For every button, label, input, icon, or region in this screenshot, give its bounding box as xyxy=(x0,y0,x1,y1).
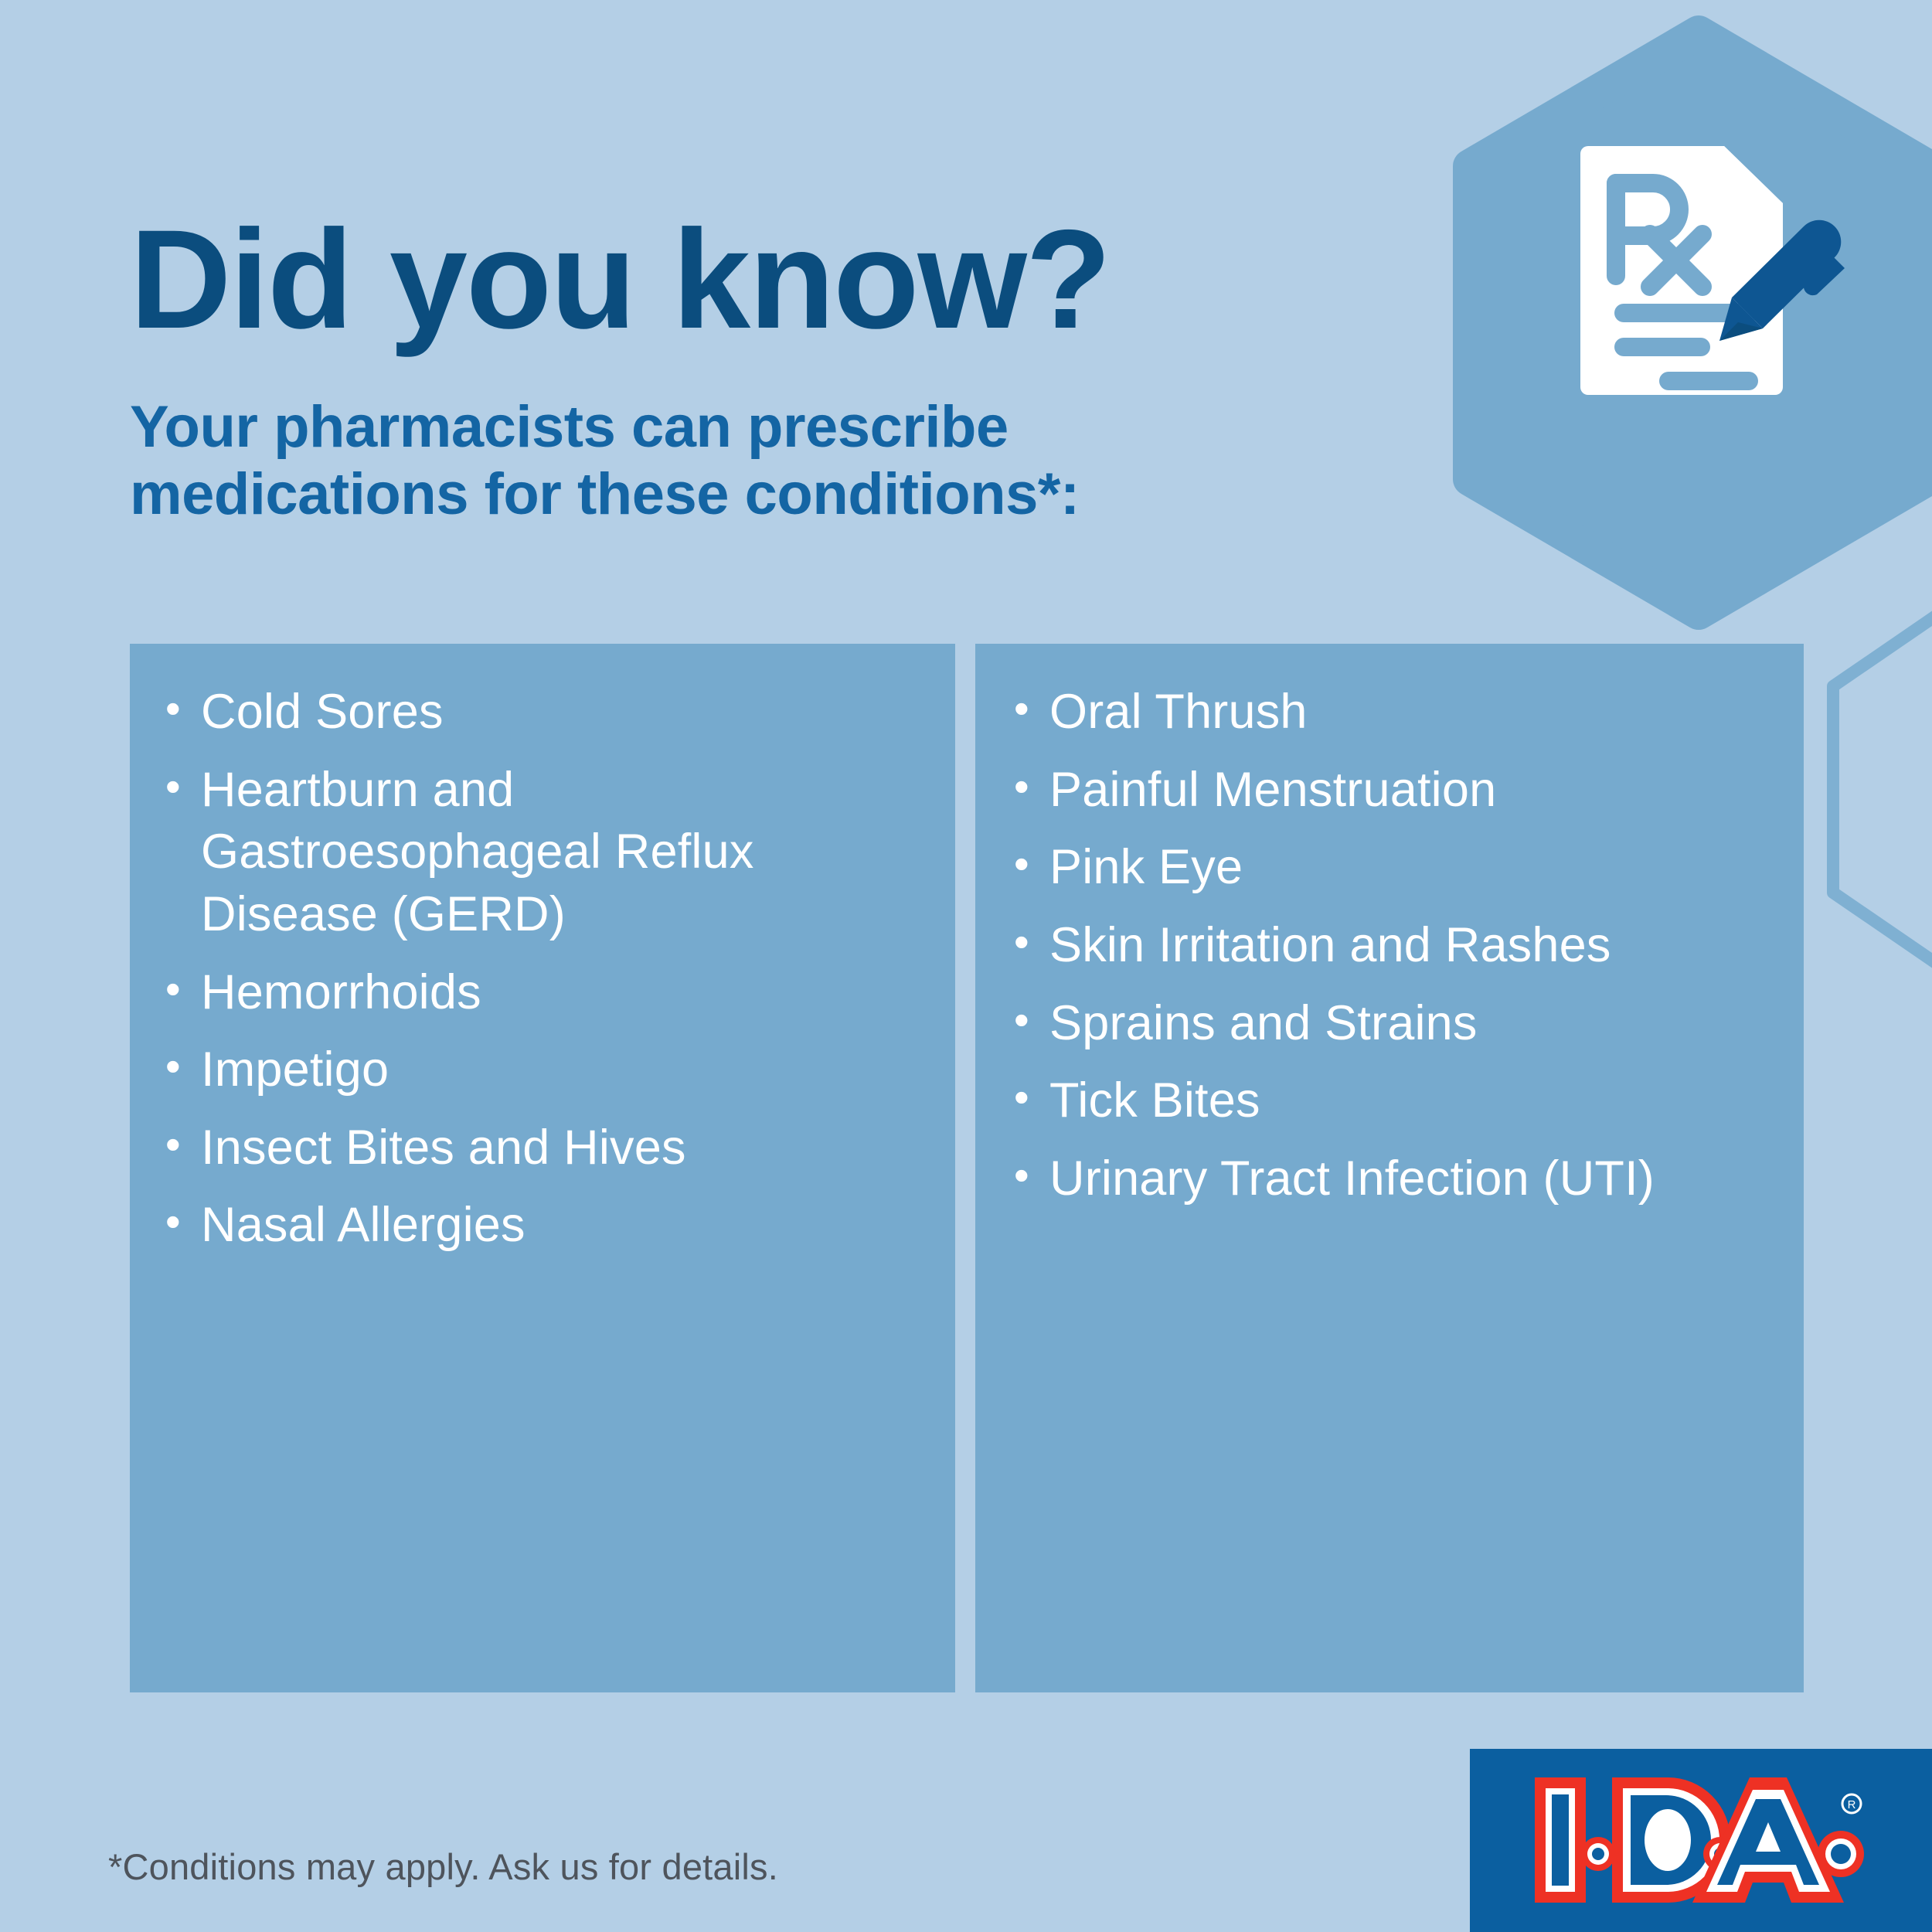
list-item: Impetigo xyxy=(161,1039,924,1101)
list-item: Pink Eye xyxy=(1009,836,1773,899)
prescription-document-icon xyxy=(1573,135,1851,421)
list-item: Sprains and Strains xyxy=(1009,992,1773,1055)
ida-logo: R xyxy=(1532,1774,1872,1906)
subtitle-line-2: medications for these conditions*: xyxy=(130,461,1289,529)
list-item: Skin Irritation and Rashes xyxy=(1009,914,1773,977)
subtitle-line-1: Your pharmacists can prescribe xyxy=(130,394,1289,461)
svg-text:R: R xyxy=(1848,1798,1856,1811)
list-item: Urinary Tract Infection (UTI) xyxy=(1009,1148,1773,1210)
list-item: Insect Bites and Hives xyxy=(161,1117,924,1179)
page-subtitle: Your pharmacists can prescribe medicatio… xyxy=(130,394,1289,528)
conditions-panel-right: Oral Thrush Painful Menstruation Pink Ey… xyxy=(975,644,1804,1692)
conditions-list-left: Cold Sores Heartburn and Gastroesophagea… xyxy=(161,681,924,1257)
list-item: Nasal Allergies xyxy=(161,1194,924,1257)
list-item: Painful Menstruation xyxy=(1009,759,1773,821)
hexagon-outline-icon xyxy=(1833,583,1932,995)
list-item: Hemorrhoids xyxy=(161,961,924,1024)
conditions-list-right: Oral Thrush Painful Menstruation Pink Ey… xyxy=(1009,681,1773,1209)
registered-trademark-icon: R xyxy=(1842,1794,1861,1813)
brand-logo-plate: R xyxy=(1470,1749,1932,1932)
list-item: Heartburn and Gastroesophageal Reflux Di… xyxy=(161,759,924,946)
list-item: Cold Sores xyxy=(161,681,924,743)
poster-canvas: Did you know? Your pharmacists can presc… xyxy=(0,0,1932,1932)
list-item: Tick Bites xyxy=(1009,1070,1773,1132)
page-title: Did you know? xyxy=(130,209,1110,349)
footnote-disclaimer: *Conditions may apply. Ask us for detail… xyxy=(108,1845,778,1888)
conditions-panel-left: Cold Sores Heartburn and Gastroesophagea… xyxy=(130,644,955,1692)
conditions-panels: Cold Sores Heartburn and Gastroesophagea… xyxy=(130,644,1804,1692)
list-item: Oral Thrush xyxy=(1009,681,1773,743)
